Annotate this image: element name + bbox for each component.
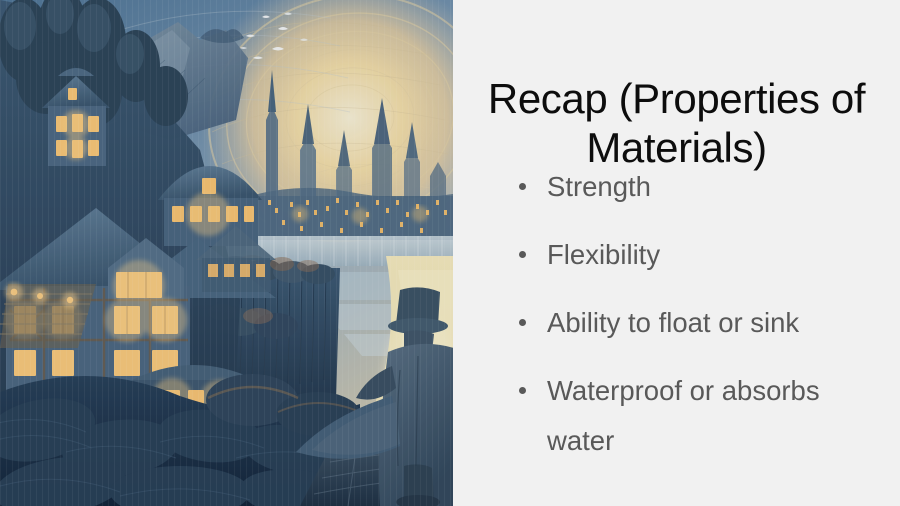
properties-bullet-list: Strength Flexibility Ability to float or… — [453, 162, 900, 484]
slide-title: Recap (Properties of Materials) — [467, 74, 886, 172]
bullet-text: Waterproof or absorbs water — [547, 375, 820, 456]
bullet-text: Strength — [547, 171, 651, 202]
bullet-text: Ability to float or sink — [547, 307, 799, 338]
bullet-item-waterproof: Waterproof or absorbs water — [453, 366, 900, 466]
bullet-item-flexibility: Flexibility — [453, 230, 900, 280]
bullet-item-float-or-sink: Ability to float or sink — [453, 298, 900, 348]
bullet-text: Flexibility — [547, 239, 660, 270]
presentation-slide: Recap (Properties of Materials) Strength… — [0, 0, 900, 506]
bullet-marker-icon — [519, 183, 526, 190]
bullet-marker-icon — [519, 319, 526, 326]
bullet-marker-icon — [519, 387, 526, 394]
bullet-marker-icon — [519, 251, 526, 258]
slide-illustration-image — [0, 0, 453, 506]
slide-content-panel: Recap (Properties of Materials) Strength… — [453, 0, 900, 506]
bullet-item-strength: Strength — [453, 162, 900, 212]
fantasy-village-illustration — [0, 0, 453, 506]
